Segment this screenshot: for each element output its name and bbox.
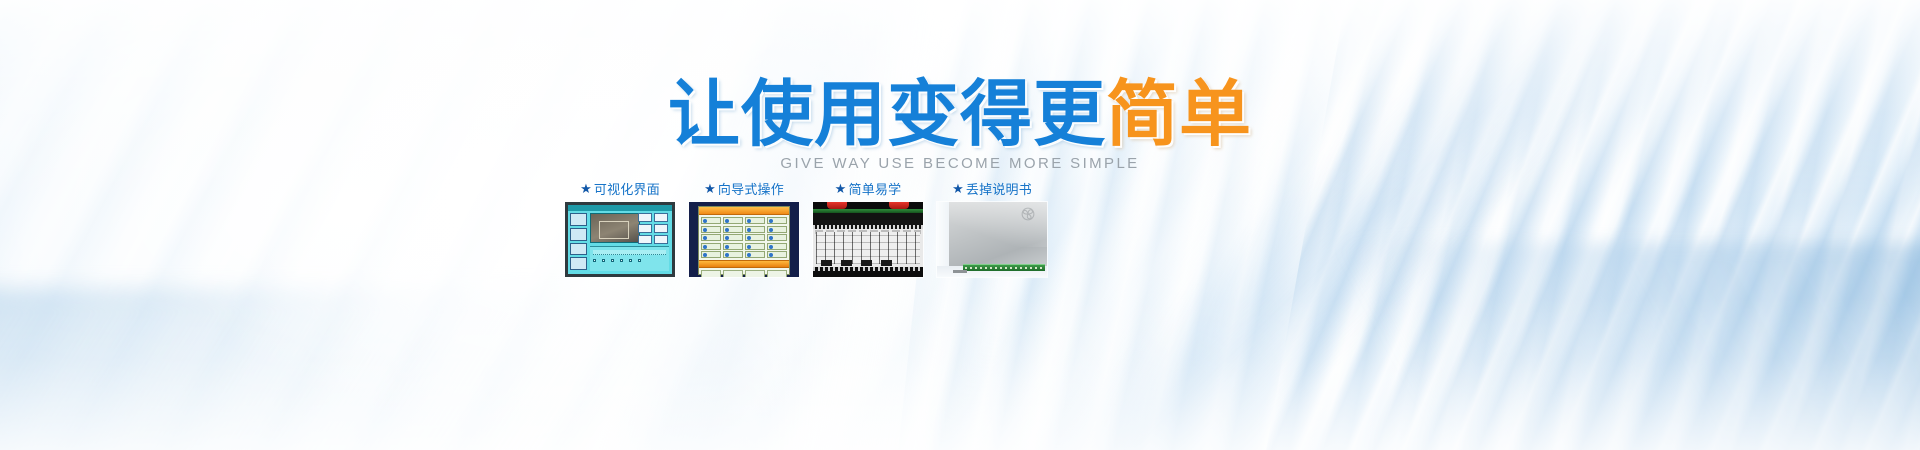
thumb-side-button: [570, 213, 587, 226]
feature-label-row: ★ 向导式操作: [689, 178, 799, 198]
thumb-side-button: [570, 257, 587, 270]
thumb-option: [701, 217, 721, 224]
thumb-right-button: [638, 213, 652, 222]
thumb-option: [767, 226, 787, 233]
thumb-dark-body: [813, 213, 923, 225]
thumb-option: [723, 251, 743, 258]
thumb-button: [723, 270, 743, 277]
red-clamp: [827, 202, 847, 209]
thumb-option: [745, 251, 765, 258]
thumb-contact-teeth-bottom: [813, 267, 923, 271]
star-icon: ★: [580, 182, 592, 195]
thumb-option: [723, 243, 743, 250]
feature-label-row: ★ 可视化界面: [565, 178, 675, 198]
thumb-option: [745, 226, 765, 233]
thumb-header-bar-2: [699, 260, 789, 268]
feature-item-wizard-operation[interactable]: ★ 向导式操作: [689, 178, 799, 277]
thumb-option: [767, 217, 787, 224]
thumb-screen: [698, 206, 790, 275]
thumb-option: [745, 217, 765, 224]
checkbox-icon: [602, 259, 605, 262]
thumb-image-preview: [590, 213, 640, 243]
feature-thumbnail-hmi-screen[interactable]: [565, 202, 675, 277]
thumb-option: [723, 217, 743, 224]
thumb-black-block: [881, 260, 892, 266]
thumb-black-block: [821, 260, 832, 266]
thumb-black-block: [841, 260, 852, 266]
banner-content: 让使用变得更简单 GIVE WAY USE BECOME MORE SIMPLE…: [0, 0, 1920, 450]
star-icon: ★: [835, 182, 847, 195]
thumb-option: [767, 243, 787, 250]
thumb-right-button: [654, 235, 668, 244]
thumb-option: [723, 234, 743, 241]
thumb-button: [745, 270, 765, 277]
star-icon: ★: [952, 182, 964, 195]
thumb-title-bar: [568, 205, 672, 211]
thumb-button: [701, 270, 721, 277]
feature-label: 可视化界面: [594, 179, 660, 198]
feature-list: ★ 可视化界面: [565, 178, 1355, 277]
feature-label-row: ★ 丢掉说明书: [937, 178, 1047, 198]
thumb-right-buttons: [638, 213, 670, 244]
thumb-right-button: [638, 235, 652, 244]
feature-item-visual-interface[interactable]: ★ 可视化界面: [565, 178, 675, 277]
thumb-right-button: [638, 224, 652, 233]
checkbox-icon: [629, 259, 632, 262]
checkbox-icon: [593, 259, 596, 262]
page-subtitle: GIVE WAY USE BECOME MORE SIMPLE: [0, 155, 1920, 172]
checkbox-icon: [638, 259, 641, 262]
thumb-right-button: [654, 213, 668, 222]
feature-label: 向导式操作: [718, 179, 784, 198]
feature-item-easy-to-learn[interactable]: ★ 简单易学: [813, 178, 923, 277]
checkbox-icon: [611, 259, 614, 262]
thumb-screen: [568, 205, 672, 274]
thumb-button-grid: [699, 268, 789, 277]
thumb-option: [701, 251, 721, 258]
red-clamp: [889, 202, 909, 209]
thumb-option: [701, 226, 721, 233]
thumb-checkbox-group: [593, 259, 666, 262]
thumb-side-buttons: [570, 213, 587, 270]
thumb-option: [745, 243, 765, 250]
banner-stage: 让使用变得更简单 GIVE WAY USE BECOME MORE SIMPLE…: [0, 0, 1920, 450]
page-title: 让使用变得更简单: [0, 78, 1920, 150]
feature-label: 简单易学: [849, 179, 902, 198]
thumb-option: [745, 234, 765, 241]
thumb-panel-header: [593, 250, 666, 255]
thumb-footer: [813, 267, 923, 277]
thumb-option: [767, 234, 787, 241]
thumb-green-pcb-edge: [963, 264, 1045, 271]
thumb-option-grid: [699, 215, 789, 260]
feature-thumbnail-metal-enclosure[interactable]: [937, 202, 1047, 277]
feature-label: 丢掉说明书: [966, 179, 1032, 198]
thumb-red-clamps: [813, 202, 923, 209]
headline-blue-part: 让使用变得更: [668, 78, 1106, 150]
feature-item-no-manual[interactable]: ★ 丢掉说明书: [937, 178, 1047, 277]
feature-thumbnail-wizard-screen[interactable]: [689, 202, 799, 277]
fan-icon: [1017, 206, 1039, 222]
thumb-right-button: [654, 224, 668, 233]
thumb-cable-lead: [953, 270, 967, 273]
star-icon: ★: [704, 182, 716, 195]
thumb-side-button: [570, 243, 587, 256]
thumb-black-block: [861, 260, 872, 266]
headline-orange-part: 简单: [1106, 78, 1252, 150]
thumb-checkbox-panel: [590, 246, 669, 271]
checkbox-icon: [620, 259, 623, 262]
feature-label-row: ★ 简单易学: [813, 178, 923, 198]
thumb-option: [701, 234, 721, 241]
thumb-button: [767, 270, 787, 277]
thumb-option: [723, 226, 743, 233]
thumb-header-bar-1: [699, 207, 789, 215]
thumb-side-button: [570, 228, 587, 241]
thumb-option: [767, 251, 787, 258]
feature-thumbnail-terminal-block[interactable]: [813, 202, 923, 277]
thumb-option: [701, 243, 721, 250]
